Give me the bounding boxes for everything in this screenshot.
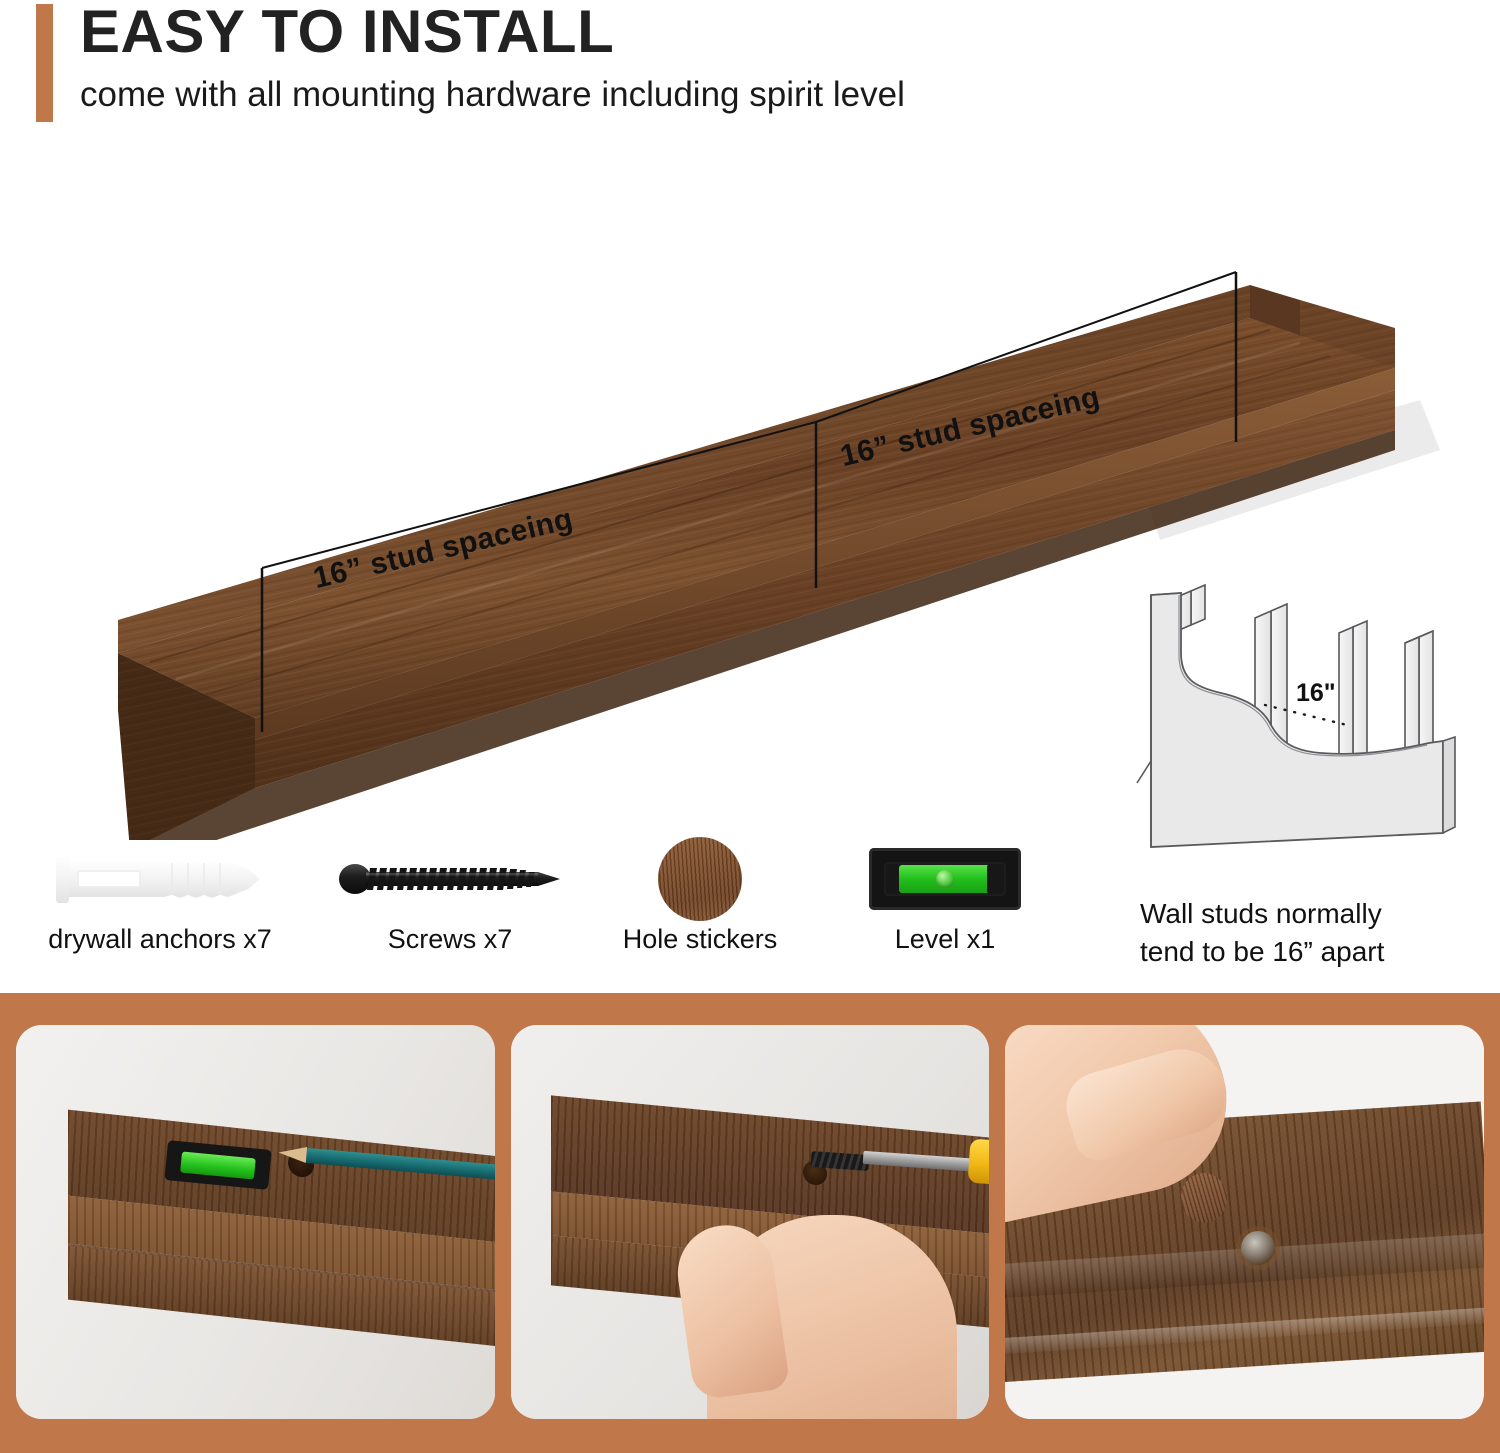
- hole-sticker-icon-wrap: [590, 840, 810, 918]
- level-vial-photo: [180, 1151, 256, 1179]
- level-cap-right: [987, 864, 1004, 894]
- wood-edge-highlight: [1005, 1307, 1484, 1354]
- screw-icon: [336, 858, 564, 900]
- screw-icon-wrap: [330, 840, 570, 918]
- level-vial: [899, 865, 991, 893]
- drywall-anchor-icon: [52, 851, 268, 907]
- stud-diagram-caption: Wall studs normally tend to be 16” apart: [1140, 895, 1440, 971]
- hardware-label-screws: Screws x7: [330, 924, 570, 955]
- stud-dimension-label: 16": [1296, 679, 1336, 708]
- spirit-level-icon-wrap: [845, 840, 1045, 918]
- hardware-item-level: Level x1: [845, 840, 1045, 955]
- photo-step-drive-screw: [511, 1025, 990, 1419]
- level-window: [884, 862, 1006, 896]
- photo-step-level-and-mark: [16, 1025, 495, 1419]
- spirit-level-icon: [869, 848, 1021, 910]
- photo-step-cover-hole: [1005, 1025, 1484, 1419]
- hardware-item-screws: Screws x7: [330, 840, 570, 955]
- hardware-label-level: Level x1: [845, 924, 1045, 955]
- hole-sticker-icon: [658, 837, 742, 921]
- hardware-item-drywall-anchors: drywall anchors x7: [10, 840, 310, 955]
- hardware-label-hole-stickers: Hole stickers: [590, 924, 810, 955]
- infographic-page: EASY TO INSTALL come with all mounting h…: [0, 0, 1500, 1453]
- level-bubble: [936, 870, 954, 888]
- hardware-label-drywall-anchors: drywall anchors x7: [10, 924, 310, 955]
- header: EASY TO INSTALL come with all mounting h…: [0, 0, 1500, 140]
- installation-steps-strip: [0, 993, 1500, 1453]
- header-text-block: EASY TO INSTALL come with all mounting h…: [80, 0, 905, 118]
- accent-bar: [36, 4, 53, 122]
- pencil-tip: [278, 1145, 307, 1163]
- page-title: EASY TO INSTALL: [80, 0, 905, 64]
- wall-stud-diagram: [1135, 575, 1485, 865]
- hardware-item-hole-stickers: Hole stickers: [590, 840, 810, 955]
- drywall-anchor-icon-wrap: [10, 840, 310, 918]
- hardware-list: drywall anchors x7: [0, 840, 1110, 980]
- screwdriver-handle: [967, 1139, 989, 1188]
- drywall-panel: [1151, 593, 1443, 847]
- page-subtitle: come with all mounting hardware includin…: [80, 72, 905, 118]
